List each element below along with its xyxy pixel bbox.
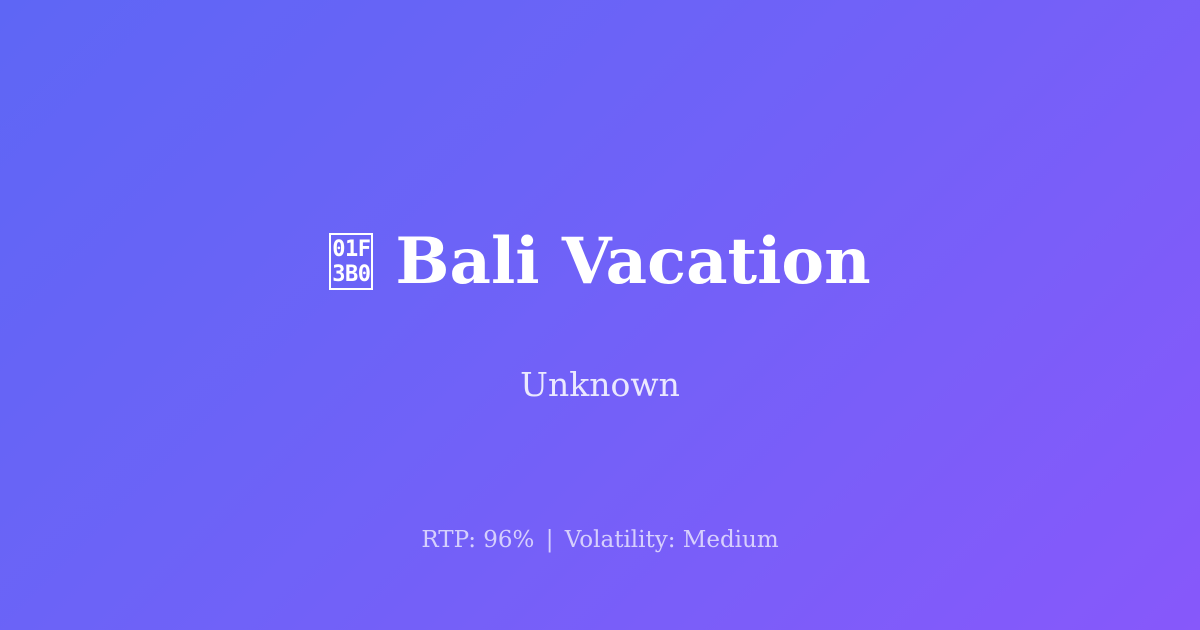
- codepoint-high-bits: 01F: [332, 237, 370, 262]
- volatility-label: Volatility: Medium: [565, 527, 779, 553]
- missing-glyph-box: 01F 3B0: [329, 233, 373, 290]
- codepoint-low-bits: 3B0: [332, 262, 370, 287]
- slot-machine-emoji: 01F 3B0: [329, 233, 373, 290]
- game-provider: Unknown: [0, 365, 1200, 405]
- game-preview-card: 01F 3B0 Bali Vacation Unknown RTP: 96% |…: [0, 0, 1200, 630]
- page-title: Bali Vacation: [395, 228, 870, 295]
- game-title-row: 01F 3B0 Bali Vacation: [0, 228, 1200, 295]
- rtp-label: RTP: 96%: [421, 527, 534, 553]
- game-stats-line: RTP: 96% | Volatility: Medium: [0, 527, 1200, 555]
- stats-separator: |: [542, 527, 558, 553]
